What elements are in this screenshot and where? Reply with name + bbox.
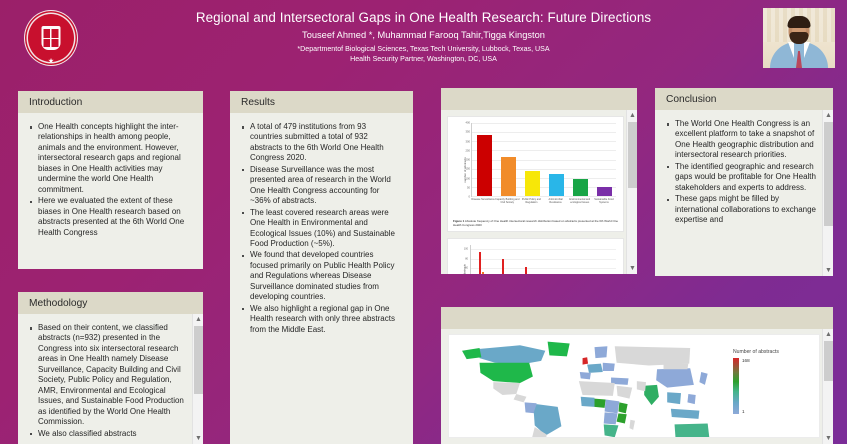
panel-methodology-header: Methodology <box>18 292 203 314</box>
country-australia <box>675 423 710 438</box>
country-uk <box>583 357 589 364</box>
country-mexico <box>493 382 520 395</box>
map-legend: Number of abstracts 168 1 <box>733 349 811 414</box>
figure-2-card: number of abstracts 020406080100 <box>447 238 624 274</box>
country-pakistan <box>637 381 646 391</box>
panel-conclusion: Conclusion The World One Health Congress… <box>655 88 833 276</box>
country-japan <box>699 372 707 385</box>
country-southafrica <box>604 424 619 437</box>
chart2-bar-group <box>525 267 539 274</box>
conclusion-scrollbar[interactable]: ▲ ▼ <box>822 110 833 276</box>
country-central-europe <box>603 363 615 371</box>
poster-affiliation-primary: *Departmentof Biological Sciences, Texas… <box>96 45 751 54</box>
scroll-up-arrow-icon[interactable]: ▲ <box>193 314 203 325</box>
scroll-up-arrow-icon[interactable]: ▲ <box>823 110 833 121</box>
chart1-x-tick: Sustainable Food Systems <box>592 198 616 204</box>
map-legend-max: 168 <box>742 358 750 363</box>
country-northafrica <box>579 381 615 396</box>
chart2-bar-groups <box>471 245 616 274</box>
scrollbar-thumb[interactable] <box>194 326 203 394</box>
list-item: The identified geographic and research g… <box>665 162 819 193</box>
panel-introduction: Introduction One Health concepts highlig… <box>18 91 203 269</box>
panel-methodology-body: Based on their content, we classified ab… <box>18 314 203 444</box>
chart1-bar <box>573 179 588 196</box>
figure-1-caption-text: Absolute frequency of One Health interse… <box>453 219 618 227</box>
panel-map-content: Number of abstracts 168 1 <box>441 329 833 444</box>
chart1-y-tick: 0 <box>469 196 471 199</box>
list-item: We also classified abstracts <box>28 429 189 439</box>
portrait-collar-right <box>804 42 810 58</box>
world-map-choropleth <box>451 337 727 438</box>
chart2-bar-group <box>479 252 493 274</box>
chart1-x-tick: Antimicrobial Resistance <box>544 198 568 204</box>
chart2-bar-group <box>502 259 516 274</box>
chart1-bar <box>501 157 516 196</box>
chart2-bar <box>502 259 504 274</box>
scrollbar-thumb[interactable] <box>628 122 637 188</box>
list-item: Here we evaluated the extent of these bi… <box>28 196 189 238</box>
map-scrollbar[interactable]: ▲ ▼ <box>822 329 833 444</box>
chart1-y-tick-labels: 050100150200250300350400 <box>459 123 470 197</box>
results-bullet-list: A total of 479 institutions from 93 coun… <box>240 122 399 335</box>
panel-conclusion-header: Conclusion <box>655 88 833 110</box>
research-poster: ★ Regional and Intersectoral Gaps in One… <box>0 0 847 444</box>
poster-authors: Touseef Ahmed *, Muhammad Farooq Tahir,T… <box>96 29 751 41</box>
introduction-bullet-list: One Health concepts highlight the inter-… <box>28 122 189 238</box>
country-kenya <box>618 402 627 413</box>
figures-scrollbar[interactable]: ▲ ▼ <box>626 110 637 274</box>
chart1-y-tick: 100 <box>466 177 470 180</box>
country-westafrica <box>581 397 595 407</box>
scrollbar-thumb[interactable] <box>824 122 833 226</box>
chart2-bar <box>525 267 527 274</box>
panel-map-header <box>441 307 833 329</box>
list-item: The least covered research areas were On… <box>240 208 399 250</box>
methodology-scrollbar[interactable]: ▲ ▼ <box>192 314 203 444</box>
country-mongolia <box>664 364 689 370</box>
choropleth-map-card: Number of abstracts 168 1 <box>448 334 820 438</box>
chart1-y-tick: 400 <box>466 122 470 125</box>
map-legend-min: 1 <box>742 409 745 414</box>
list-item: We also highlight a regional gap in One … <box>240 304 399 335</box>
panel-results-title: Results <box>241 97 275 108</box>
panel-methodology-title: Methodology <box>29 298 87 309</box>
methodology-bullet-list: Based on their content, we classified ab… <box>28 323 189 439</box>
panel-figures-body: number of abstracts 05010015020025030035… <box>441 110 637 274</box>
chart1-y-tick: 300 <box>466 140 470 143</box>
list-item: We found that developed countries focuse… <box>240 250 399 302</box>
chart2-plot-area <box>470 245 616 274</box>
scroll-up-arrow-icon[interactable]: ▲ <box>627 110 637 121</box>
chart1-x-tick: Environmental and ecological Issues <box>568 198 592 204</box>
chart1-y-tick: 350 <box>466 131 470 134</box>
list-item: Based on their content, we classified ab… <box>28 323 189 428</box>
panel-map-body: Number of abstracts 168 1 ▲ ▼ <box>441 329 833 444</box>
panel-conclusion-body: The World One Health Congress is an exce… <box>655 110 833 276</box>
country-sea <box>667 392 681 404</box>
panel-conclusion-title: Conclusion <box>666 94 716 105</box>
country-china <box>656 368 694 387</box>
panel-introduction-title: Introduction <box>29 97 82 108</box>
conclusion-bullet-list: The World One Health Congress is an exce… <box>665 119 819 226</box>
list-item: The World One Health Congress is an exce… <box>665 119 819 161</box>
texas-tech-university-seal-icon: ★ <box>22 8 80 68</box>
scroll-down-arrow-icon[interactable]: ▼ <box>823 433 833 444</box>
figure-1-caption: Figure 1 Absolute frequency of One Healt… <box>453 220 618 228</box>
country-centralafrica <box>605 400 620 414</box>
country-greenland <box>548 342 570 357</box>
chart1-bar <box>477 135 492 196</box>
panel-methodology-content: Based on their content, we classified ab… <box>18 314 203 444</box>
seal-shield <box>42 26 61 50</box>
chart1-bar <box>597 187 612 196</box>
panel-results-content: A total of 479 institutions from 93 coun… <box>230 113 413 444</box>
country-tanzania <box>617 413 627 423</box>
chart2-bar <box>479 252 481 274</box>
chart2-y-tick-labels: 020406080100 <box>458 245 468 274</box>
chart1-y-tick: 250 <box>466 149 470 152</box>
chart2-bar <box>482 272 484 274</box>
chart1-x-tick: Capacity Building and Civil Society <box>495 198 519 204</box>
country-nigeria <box>595 399 606 408</box>
chart1-y-tick: 50 <box>467 186 470 189</box>
panel-figures-content: number of abstracts 05010015020025030035… <box>441 110 637 274</box>
portrait-hair <box>788 16 811 28</box>
chart1-y-tick: 200 <box>466 159 470 162</box>
country-russia <box>615 346 690 365</box>
country-madagascar <box>629 420 635 430</box>
map-legend-title: Number of abstracts <box>733 349 811 355</box>
bar-chart-intersectoral-distribution: number of abstracts 05010015020025030035… <box>453 121 618 218</box>
map-legend-scale: 168 1 <box>733 358 811 414</box>
country-canada <box>479 345 546 364</box>
grouped-bar-chart-by-region: number of abstracts 020406080100 <box>453 243 618 274</box>
list-item: One Health concepts highlight the inter-… <box>28 122 189 195</box>
country-alaska <box>462 348 481 359</box>
figure-1-card: number of abstracts 05010015020025030035… <box>447 116 624 232</box>
country-scandinavia <box>595 346 608 358</box>
panel-results-header: Results <box>230 91 413 113</box>
country-spain <box>580 372 591 379</box>
map-legend-colorbar <box>733 358 739 414</box>
author-portrait-photo <box>763 8 835 68</box>
list-item: Disease Surveillance was the most presen… <box>240 165 399 207</box>
scrollbar-thumb[interactable] <box>824 341 833 381</box>
title-block: Regional and Intersectoral Gaps in One H… <box>96 9 751 65</box>
panel-results-body: A total of 479 institutions from 93 coun… <box>230 113 413 444</box>
chart1-x-tick: Disease Surveillance <box>471 198 495 204</box>
country-philippines <box>687 394 695 404</box>
panel-figures: number of abstracts 05010015020025030035… <box>441 88 637 274</box>
chart2-y-tick: 80 <box>465 257 468 260</box>
poster-affiliation-secondary: Health Security Partner, Washington, DC,… <box>96 55 751 64</box>
panel-conclusion-content: The World One Health Congress is an exce… <box>655 110 833 276</box>
country-western-europe <box>587 364 603 373</box>
scroll-up-arrow-icon[interactable]: ▲ <box>823 329 833 340</box>
panel-introduction-header: Introduction <box>18 91 203 113</box>
panel-introduction-content: One Health concepts highlight the inter-… <box>18 113 203 269</box>
chart1-plot-area <box>471 123 616 197</box>
country-southernafrica <box>604 412 618 424</box>
country-usa <box>480 363 533 383</box>
chart1-x-tick: Public Policy and Regulation <box>519 198 543 204</box>
country-centralamerica <box>514 394 527 402</box>
list-item: These gaps might be filled by internatio… <box>665 194 819 225</box>
panel-methodology: Methodology Based on their content, we c… <box>18 292 203 444</box>
portrait-collar-left <box>788 42 794 58</box>
chart1-y-tick: 150 <box>466 168 470 171</box>
chart1-bar <box>525 171 540 196</box>
country-saudi <box>617 386 633 399</box>
panel-introduction-body: One Health concepts highlight the inter-… <box>18 113 203 269</box>
portrait-image <box>763 8 835 68</box>
country-india <box>644 385 659 405</box>
scroll-down-arrow-icon[interactable]: ▼ <box>627 263 637 274</box>
seal-star-icon: ★ <box>48 58 54 65</box>
chart1-gridline <box>472 196 616 197</box>
country-indonesia <box>671 409 700 419</box>
scroll-down-arrow-icon[interactable]: ▼ <box>193 433 203 444</box>
chart1-bars <box>472 123 616 196</box>
poster-header: ★ Regional and Intersectoral Gaps in One… <box>0 0 847 78</box>
panel-figures-header <box>441 88 637 110</box>
chart1-x-tick-labels: Disease SurveillanceCapacity Building an… <box>471 198 616 204</box>
list-item: A total of 479 institutions from 93 coun… <box>240 122 399 164</box>
chart2-y-tick: 60 <box>465 267 468 270</box>
panel-world-map: Number of abstracts 168 1 ▲ ▼ <box>441 307 833 444</box>
chart1-bar <box>549 174 564 196</box>
panel-results: Results A total of 479 institutions from… <box>230 91 413 444</box>
chart2-y-tick: 100 <box>464 248 468 251</box>
scroll-down-arrow-icon[interactable]: ▼ <box>823 265 833 276</box>
map-countries <box>462 342 722 438</box>
poster-title: Regional and Intersectoral Gaps in One H… <box>96 9 751 26</box>
